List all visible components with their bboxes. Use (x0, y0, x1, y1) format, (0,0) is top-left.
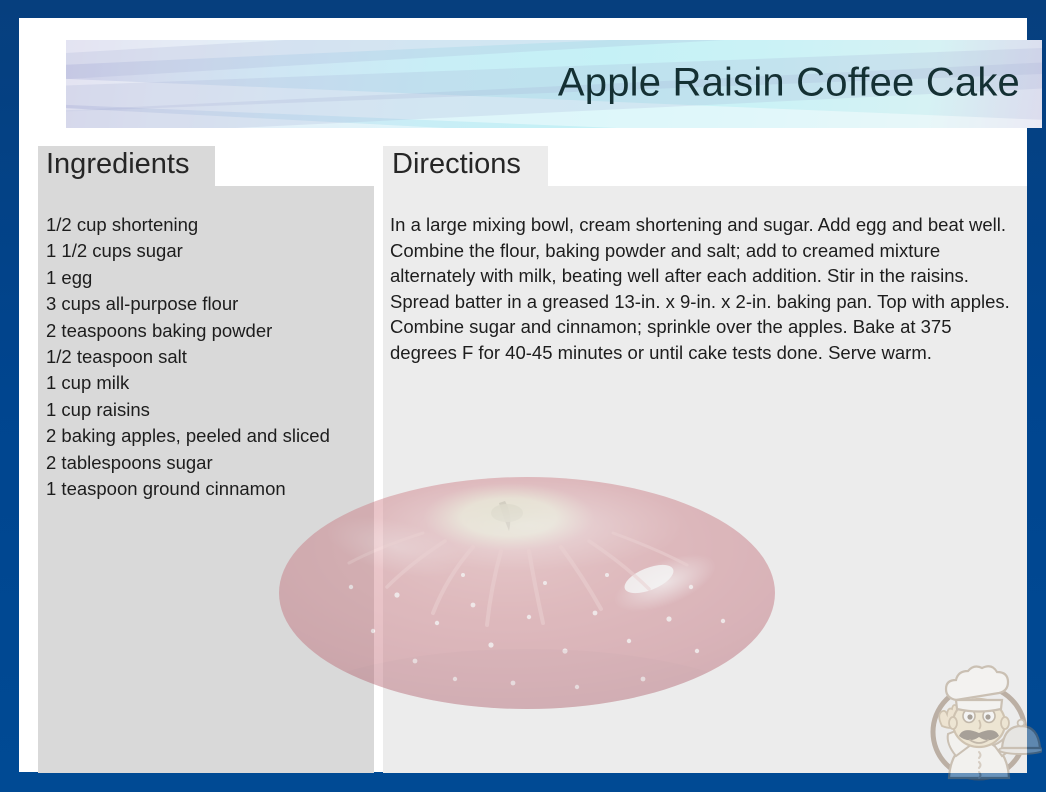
directions-heading-tab: Directions (383, 146, 548, 186)
ingredient-item: 2 baking apples, peeled and sliced (46, 423, 362, 449)
ingredient-item: 1 cup milk (46, 370, 362, 396)
ingredients-list: 1/2 cup shortening1 1/2 cups sugar1 egg3… (46, 212, 362, 502)
ingredients-heading-tab: Ingredients (38, 146, 215, 186)
recipe-card: Apple Raisin Coffee Cake Ingredients 1/2… (0, 0, 1046, 792)
ingredient-item: 1 1/2 cups sugar (46, 238, 362, 264)
ingredient-item: 1/2 cup shortening (46, 212, 362, 238)
ingredients-panel: 1/2 cup shortening1 1/2 cups sugar1 egg3… (38, 186, 374, 773)
ingredient-item: 1 cup raisins (46, 397, 362, 423)
card-page: Apple Raisin Coffee Cake Ingredients 1/2… (19, 18, 1027, 772)
ingredient-item: 2 tablespoons sugar (46, 450, 362, 476)
directions-panel: In a large mixing bowl, cream shortening… (383, 186, 1027, 773)
ingredient-item: 1 egg (46, 265, 362, 291)
ingredients-heading: Ingredients (46, 148, 190, 181)
directions-heading: Directions (392, 148, 521, 181)
header-banner: Apple Raisin Coffee Cake (66, 40, 1042, 128)
ingredient-item: 1/2 teaspoon salt (46, 344, 362, 370)
ingredient-item: 1 teaspoon ground cinnamon (46, 476, 362, 502)
page-title: Apple Raisin Coffee Cake (558, 61, 1020, 106)
ingredient-item: 3 cups all-purpose flour (46, 291, 362, 317)
ingredient-item: 2 teaspoons baking powder (46, 318, 362, 344)
directions-text: In a large mixing bowl, cream shortening… (390, 212, 1018, 366)
